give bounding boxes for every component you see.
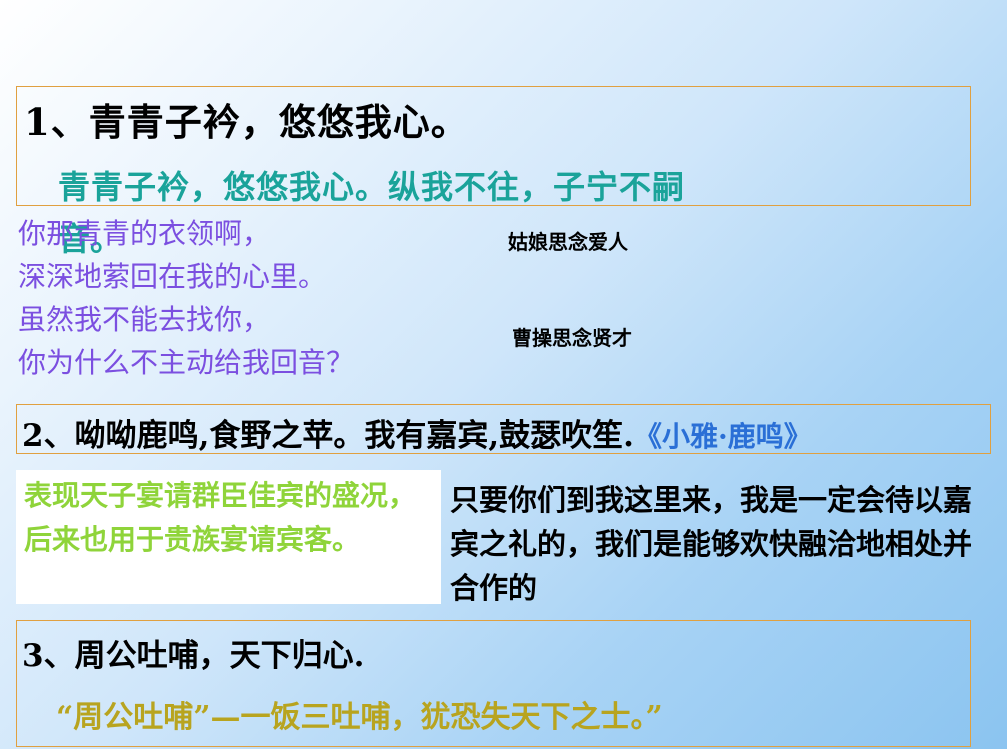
section-2-heading-text: 2、呦呦鹿鸣,食野之苹。我有嘉宾,鼓瑟吹笙. xyxy=(22,418,634,454)
translation-line-1: 你那青青的衣领啊， xyxy=(18,212,354,255)
section-2-heading: 2、呦呦鹿鸣,食野之苹。我有嘉宾,鼓瑟吹笙.《小雅·鹿鸣》 xyxy=(22,410,812,455)
section-1-heading: 1、青青子衿，悠悠我心。 xyxy=(24,92,469,146)
section-2-black-note: 只要你们到我这里来，我是一定会待以嘉宾之礼的，我们是能够欢快融洽地相处并合作的 xyxy=(450,478,990,610)
section-3-heading: 3、周公吐哺，天下归心. xyxy=(22,630,364,675)
translation-line-4: 你为什么不主动给我回音？ xyxy=(18,341,354,384)
section-3-explanation: “周公吐哺”—一饭三吐哺，犹恐失天下之士。” xyxy=(56,692,663,736)
section-1-note-a: 姑娘思念爱人 xyxy=(508,226,628,255)
section-1-quote-line-1: 青青子衿，悠悠我心。纵我不往，子宁不嗣 xyxy=(58,162,685,208)
section-2-green-note: 表现天子宴请群臣佳宾的盛况，后来也用于贵族宴请宾客。 xyxy=(24,474,434,562)
section-2-source: 《小雅·鹿鸣》 xyxy=(634,420,812,453)
translation-line-3: 虽然我不能去找你， xyxy=(18,298,354,341)
slide-canvas: 1、青青子衿，悠悠我心。 青青子衿，悠悠我心。纵我不往，子宁不嗣 音。 你那青青… xyxy=(0,0,1007,749)
translation-line-2: 深深地萦回在我的心里。 xyxy=(18,255,354,298)
section-1-translation: 你那青青的衣领啊， 深深地萦回在我的心里。 虽然我不能去找你， 你为什么不主动给… xyxy=(18,212,354,384)
section-1-note-b: 曹操思念贤才 xyxy=(512,322,632,351)
